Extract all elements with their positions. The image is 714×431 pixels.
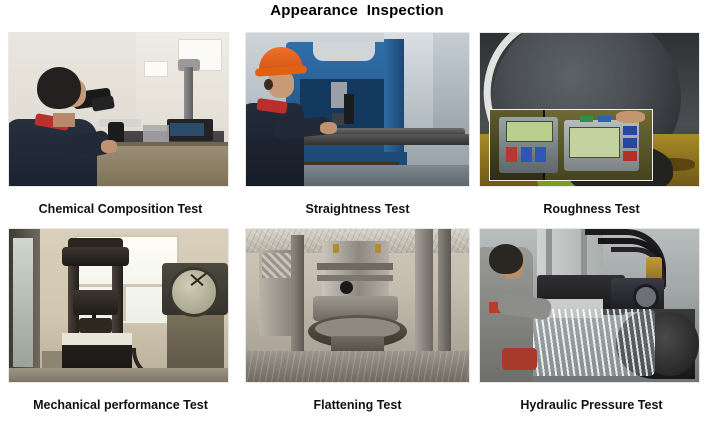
brass-bolt [333, 244, 339, 253]
straightness-photo[interactable] [245, 32, 470, 187]
page-title: Appearance Inspection [0, 0, 714, 22]
upper-grip [73, 290, 119, 314]
lab-floor [9, 368, 228, 382]
gallery-item-caption: Flattening Test [245, 397, 470, 413]
press-tool [344, 94, 354, 124]
inspection-gallery-grid: Chemical Composition Test [0, 32, 714, 424]
gauge-side-button [623, 126, 638, 136]
window-mullion [123, 284, 126, 321]
tester-blue-button [535, 147, 546, 162]
worker-head [489, 244, 523, 274]
bed-texture [246, 351, 469, 382]
tester-blue-button [521, 147, 532, 162]
ram-collar [317, 275, 393, 281]
door-glass [13, 238, 33, 367]
technician-head [37, 67, 81, 109]
appearance-inspection-page: Appearance Inspection [0, 0, 714, 431]
technician-hand [101, 140, 117, 153]
gallery-item-mechanical-performance-test[interactable]: Mechanical performance Test [8, 228, 233, 424]
lower-grip [79, 318, 112, 333]
roughness-photo[interactable] [479, 32, 700, 187]
press-post [438, 229, 451, 361]
gallery-row: Chemical Composition Test [0, 32, 714, 228]
adjust-knob [340, 281, 353, 294]
gallery-item-chemical-composition-test[interactable]: Chemical Composition Test [8, 32, 233, 228]
press-post [415, 229, 433, 361]
ram-collar [317, 263, 393, 271]
gallery-row: Mechanical performance Test [0, 228, 714, 424]
tester-lcd-screen [506, 121, 553, 141]
mechanical-performance-photo[interactable] [8, 228, 229, 383]
gallery-item-roughness-test[interactable]: Roughness Test [479, 32, 704, 228]
gallery-item-caption: Hydraulic Pressure Test [479, 397, 704, 413]
roughness-gauge-inset [489, 109, 653, 181]
gallery-item-caption: Chemical Composition Test [8, 201, 233, 217]
worker-hair [264, 79, 273, 90]
hydraulic-pressure-photo[interactable] [479, 228, 700, 383]
red-equipment [502, 348, 537, 369]
brass-bolt [375, 244, 381, 253]
gauge-side-button [623, 138, 638, 148]
analog-dial-gauge [169, 267, 219, 317]
tester-red-button [506, 147, 517, 162]
chemical-composition-photo[interactable] [8, 32, 229, 187]
gallery-item-flattening-test[interactable]: Flattening Test [245, 228, 470, 424]
worker-hand [320, 122, 337, 134]
technician-neck [53, 113, 75, 127]
gauge-power-button [623, 151, 638, 161]
gallery-item-caption: Mechanical performance Test [8, 397, 233, 413]
steel-pipe-shadow [295, 134, 469, 145]
gallery-item-straightness-test[interactable]: Straightness Test [245, 32, 470, 228]
worker-body [245, 103, 304, 186]
gauge-blue-button [598, 116, 611, 122]
gallery-item-hydraulic-pressure-test[interactable]: Hydraulic Pressure Test [479, 228, 704, 424]
operator-finger [616, 111, 645, 122]
machine-crosshead [62, 247, 130, 265]
digital-gauge-display [569, 127, 620, 159]
gauge-green-button [580, 116, 593, 122]
flattening-photo[interactable] [245, 228, 470, 383]
wall-note-icon [144, 61, 168, 77]
microscope-tube [91, 95, 115, 112]
gallery-item-caption: Straightness Test [245, 201, 470, 217]
pillar-knurling [262, 253, 291, 277]
press-notch [313, 42, 375, 60]
analyzer-screen [170, 123, 204, 136]
gallery-item-caption: Roughness Test [479, 201, 704, 217]
workshop-wall-panel [433, 33, 469, 143]
